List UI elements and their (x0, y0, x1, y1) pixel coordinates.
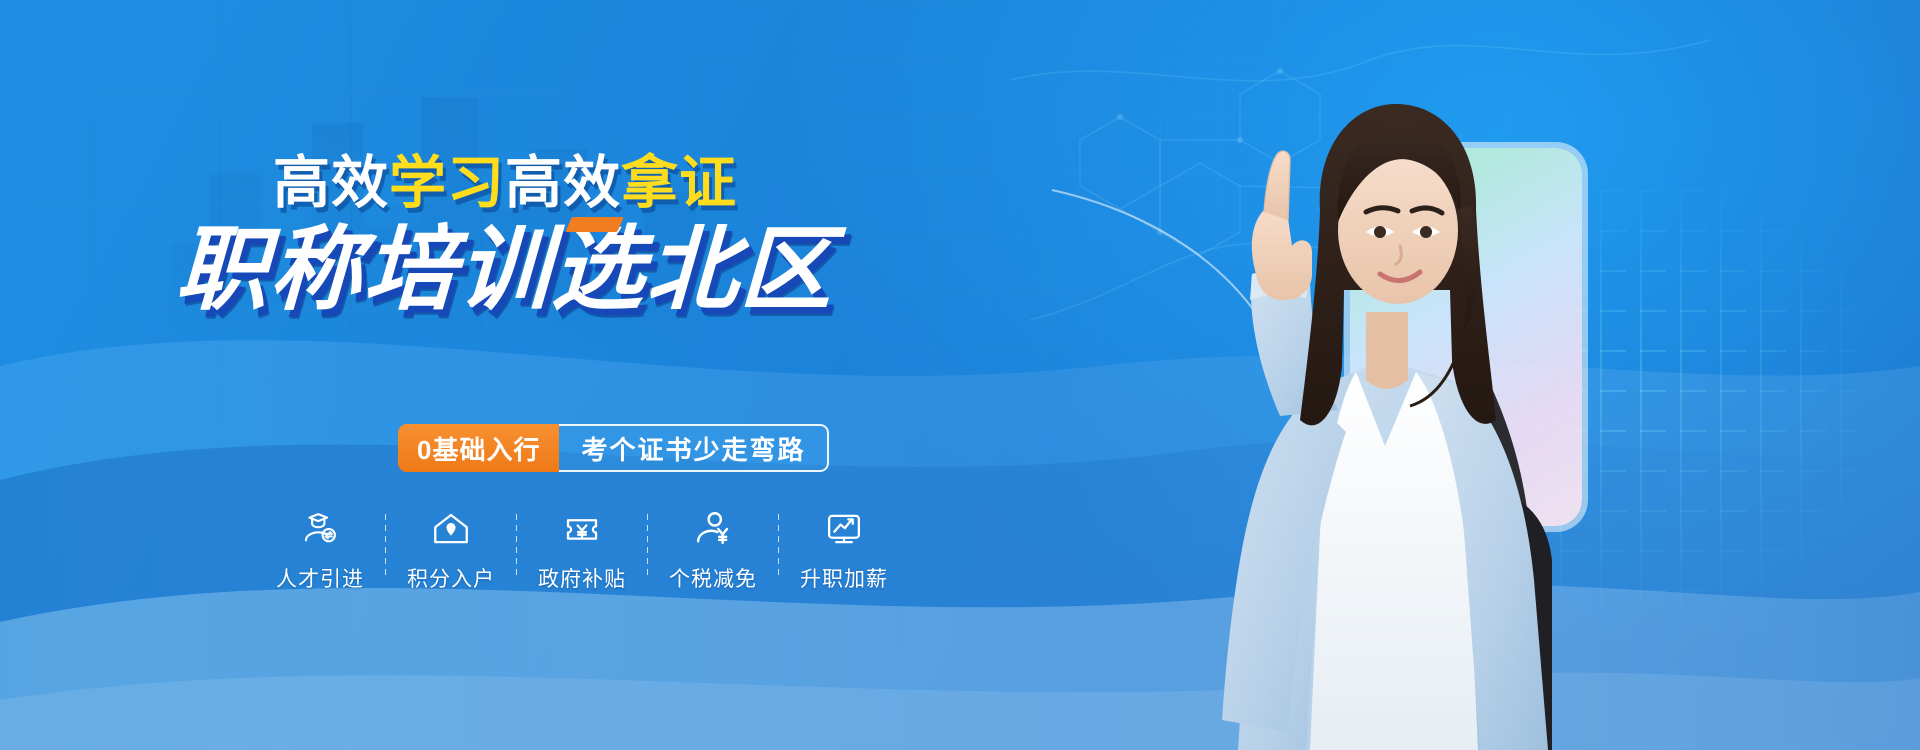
tagline-badge: 0基础入行 考个证书少走弯路 (398, 424, 829, 472)
feature-label: 个税减免 (669, 563, 757, 593)
growth-chart-icon (823, 508, 865, 550)
feature-label: 升职加薪 (800, 563, 888, 593)
feature-label: 人才引进 (276, 563, 364, 593)
eyebrow-part-3: 高效 (505, 151, 621, 215)
feature-list: 人才引进 积分入户 政府补贴 (255, 508, 909, 593)
pointing-businesswoman-photo (1160, 60, 1680, 750)
headline-marked-char: 选 (550, 219, 648, 321)
house-pin-icon (430, 508, 472, 550)
feature-item-promotion-raise[interactable]: 升职加薪 (779, 508, 909, 593)
main-headline: 职称培训选北区 (0, 224, 1012, 316)
eyebrow-part-4-highlight: 拿证 (621, 151, 737, 215)
promo-banner: 高效学习高效拿证 职称培训选北区 0基础入行 考个证书少走弯路 人才引进 (0, 0, 1920, 750)
eyebrow-headline: 高效学习高效拿证 (0, 155, 1010, 212)
graduate-person-icon (299, 508, 341, 550)
feature-label: 政府补贴 (538, 563, 626, 593)
person-yuan-icon (692, 508, 734, 550)
photo-zone (1020, 0, 1920, 750)
feature-item-points-residency[interactable]: 积分入户 (386, 508, 516, 593)
yuan-coupon-icon (561, 508, 603, 550)
headline-text-after: 北区 (644, 219, 836, 321)
headline-text-before: 职称培训 (174, 219, 554, 321)
feature-item-tax-reduction[interactable]: 个税减免 (648, 508, 778, 593)
feature-label: 积分入户 (407, 563, 495, 593)
copy-block: 高效学习高效拿证 职称培训选北区 0基础入行 考个证书少走弯路 人才引进 (0, 0, 1010, 750)
feature-item-talent-intro[interactable]: 人才引进 (255, 508, 385, 593)
badge-primary-label: 0基础入行 (398, 424, 559, 472)
feature-item-government-subsidy[interactable]: 政府补贴 (517, 508, 647, 593)
badge-secondary-label: 考个证书少走弯路 (559, 424, 829, 472)
eyebrow-part-1: 高效 (273, 151, 389, 215)
eyebrow-part-2-highlight: 学习 (389, 151, 505, 215)
